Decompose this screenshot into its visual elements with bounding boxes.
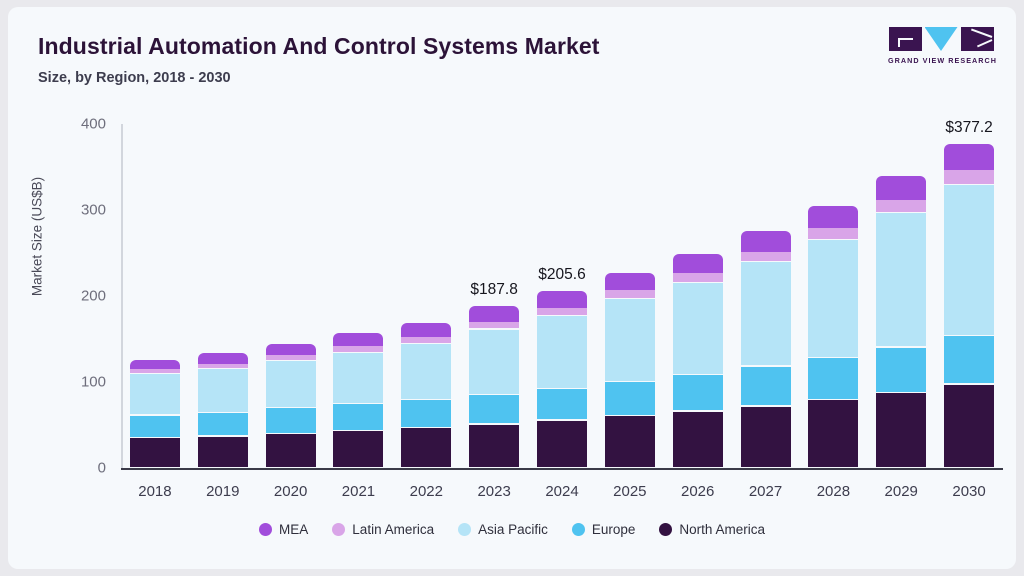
legend-item-mea[interactable]: MEA (259, 522, 308, 537)
y-axis-tick-label: 0 (54, 460, 106, 477)
bar-segment-mea[interactable] (130, 360, 180, 369)
bar-value-label: $205.6 (507, 266, 617, 284)
bar-2030[interactable] (944, 124, 994, 468)
bar-2019[interactable] (198, 124, 248, 468)
bar-segment-europe[interactable] (198, 413, 248, 435)
bar-segment-north-america[interactable] (944, 385, 994, 467)
chart-legend: MEALatin AmericaAsia PacificEuropeNorth … (8, 522, 1016, 537)
legend-color-swatch-icon (458, 523, 471, 536)
bar-segment-north-america[interactable] (266, 434, 316, 466)
bar-segment-europe[interactable] (808, 358, 858, 399)
bar-segment-north-america[interactable] (605, 416, 655, 466)
bar-segment-north-america[interactable] (537, 421, 587, 467)
bar-segment-asia-pacific[interactable] (876, 213, 926, 346)
bar-segment-north-america[interactable] (741, 407, 791, 467)
bar-segment-latin-america[interactable] (469, 322, 519, 328)
bar-segment-latin-america[interactable] (333, 346, 383, 351)
bar-segment-asia-pacific[interactable] (537, 316, 587, 388)
bar-2021[interactable] (333, 124, 383, 468)
legend-item-asia-pacific[interactable]: Asia Pacific (458, 522, 548, 537)
bar-segment-asia-pacific[interactable] (333, 353, 383, 403)
legend-color-swatch-icon (332, 523, 345, 536)
legend-color-swatch-icon (259, 523, 272, 536)
bar-segment-asia-pacific[interactable] (130, 374, 180, 414)
bar-segment-mea[interactable] (741, 231, 791, 252)
legend-item-label: North America (679, 522, 765, 537)
bar-2027[interactable] (741, 124, 791, 468)
x-axis-tick-label: 2030 (929, 483, 1009, 500)
legend-item-label: Asia Pacific (478, 522, 548, 537)
legend-item-latin-america[interactable]: Latin America (332, 522, 434, 537)
bar-segment-asia-pacific[interactable] (198, 369, 248, 412)
bar-segment-latin-america[interactable] (876, 200, 926, 212)
bar-segment-north-america[interactable] (808, 400, 858, 467)
bar-segment-north-america[interactable] (401, 428, 451, 467)
bar-segment-europe[interactable] (605, 382, 655, 415)
bar-segment-latin-america[interactable] (741, 252, 791, 262)
y-axis-tick-label: 400 (54, 116, 106, 133)
bar-segment-mea[interactable] (876, 176, 926, 201)
bar-segment-north-america[interactable] (469, 425, 519, 467)
bar-segment-latin-america[interactable] (808, 228, 858, 239)
bar-segment-asia-pacific[interactable] (401, 344, 451, 399)
bar-segment-europe[interactable] (876, 348, 926, 392)
bar-segment-mea[interactable] (333, 333, 383, 346)
y-axis-tick-label: 100 (54, 374, 106, 391)
bar-chart-plot: Market Size (US$B) 0100200300400 $187.8$… (8, 7, 1016, 569)
bar-segment-europe[interactable] (401, 400, 451, 426)
bar-2028[interactable] (808, 124, 858, 468)
legend-item-europe[interactable]: Europe (572, 522, 636, 537)
y-axis-tick-label: 300 (54, 202, 106, 219)
bar-segment-latin-america[interactable] (673, 273, 723, 282)
bar-segment-north-america[interactable] (130, 438, 180, 467)
bar-segment-europe[interactable] (537, 389, 587, 420)
bar-value-label: $187.8 (439, 281, 549, 299)
bar-2020[interactable] (266, 124, 316, 468)
bar-segment-asia-pacific[interactable] (266, 361, 316, 407)
bar-segment-mea[interactable] (198, 353, 248, 363)
bar-2029[interactable] (876, 124, 926, 468)
bar-segment-europe[interactable] (130, 416, 180, 437)
bar-segment-latin-america[interactable] (605, 290, 655, 298)
bar-segment-mea[interactable] (469, 306, 519, 322)
bar-segment-europe[interactable] (673, 375, 723, 410)
bar-segment-europe[interactable] (333, 404, 383, 430)
bar-segment-mea[interactable] (266, 344, 316, 356)
bar-segment-north-america[interactable] (876, 393, 926, 467)
bar-segment-north-america[interactable] (333, 431, 383, 467)
bar-segment-latin-america[interactable] (944, 170, 994, 183)
bar-segment-latin-america[interactable] (537, 308, 587, 315)
bar-segment-mea[interactable] (401, 323, 451, 337)
bar-segment-europe[interactable] (741, 367, 791, 406)
bar-segment-mea[interactable] (673, 254, 723, 273)
legend-item-north-america[interactable]: North America (659, 522, 765, 537)
bar-segment-asia-pacific[interactable] (673, 283, 723, 374)
legend-item-label: Europe (592, 522, 636, 537)
bar-segment-asia-pacific[interactable] (741, 262, 791, 365)
bar-segment-latin-america[interactable] (198, 364, 248, 368)
legend-color-swatch-icon (572, 523, 585, 536)
bar-2026[interactable] (673, 124, 723, 468)
bar-2018[interactable] (130, 124, 180, 468)
bar-segment-latin-america[interactable] (401, 337, 451, 343)
bar-segment-north-america[interactable] (198, 437, 248, 467)
x-axis-line (121, 468, 1003, 470)
y-axis-tick-label: 200 (54, 288, 106, 305)
bar-segment-latin-america[interactable] (130, 369, 180, 373)
y-axis-line (121, 124, 123, 468)
bar-segment-europe[interactable] (944, 336, 994, 383)
chart-card: Industrial Automation And Control System… (8, 7, 1016, 569)
bar-segment-asia-pacific[interactable] (808, 240, 858, 357)
legend-item-label: Latin America (352, 522, 434, 537)
bar-segment-europe[interactable] (266, 408, 316, 433)
bar-segment-latin-america[interactable] (266, 355, 316, 360)
bar-segment-mea[interactable] (944, 144, 994, 171)
y-axis-label: Market Size (US$B) (30, 152, 45, 322)
bar-2025[interactable] (605, 124, 655, 468)
bar-segment-mea[interactable] (808, 206, 858, 228)
bar-segment-asia-pacific[interactable] (469, 330, 519, 395)
legend-color-swatch-icon (659, 523, 672, 536)
bar-segment-europe[interactable] (469, 395, 519, 423)
bar-segment-asia-pacific[interactable] (944, 185, 994, 335)
bar-segment-north-america[interactable] (673, 412, 723, 467)
legend-item-label: MEA (279, 522, 308, 537)
bar-segment-asia-pacific[interactable] (605, 299, 655, 381)
bar-value-label: $377.2 (914, 119, 1016, 137)
